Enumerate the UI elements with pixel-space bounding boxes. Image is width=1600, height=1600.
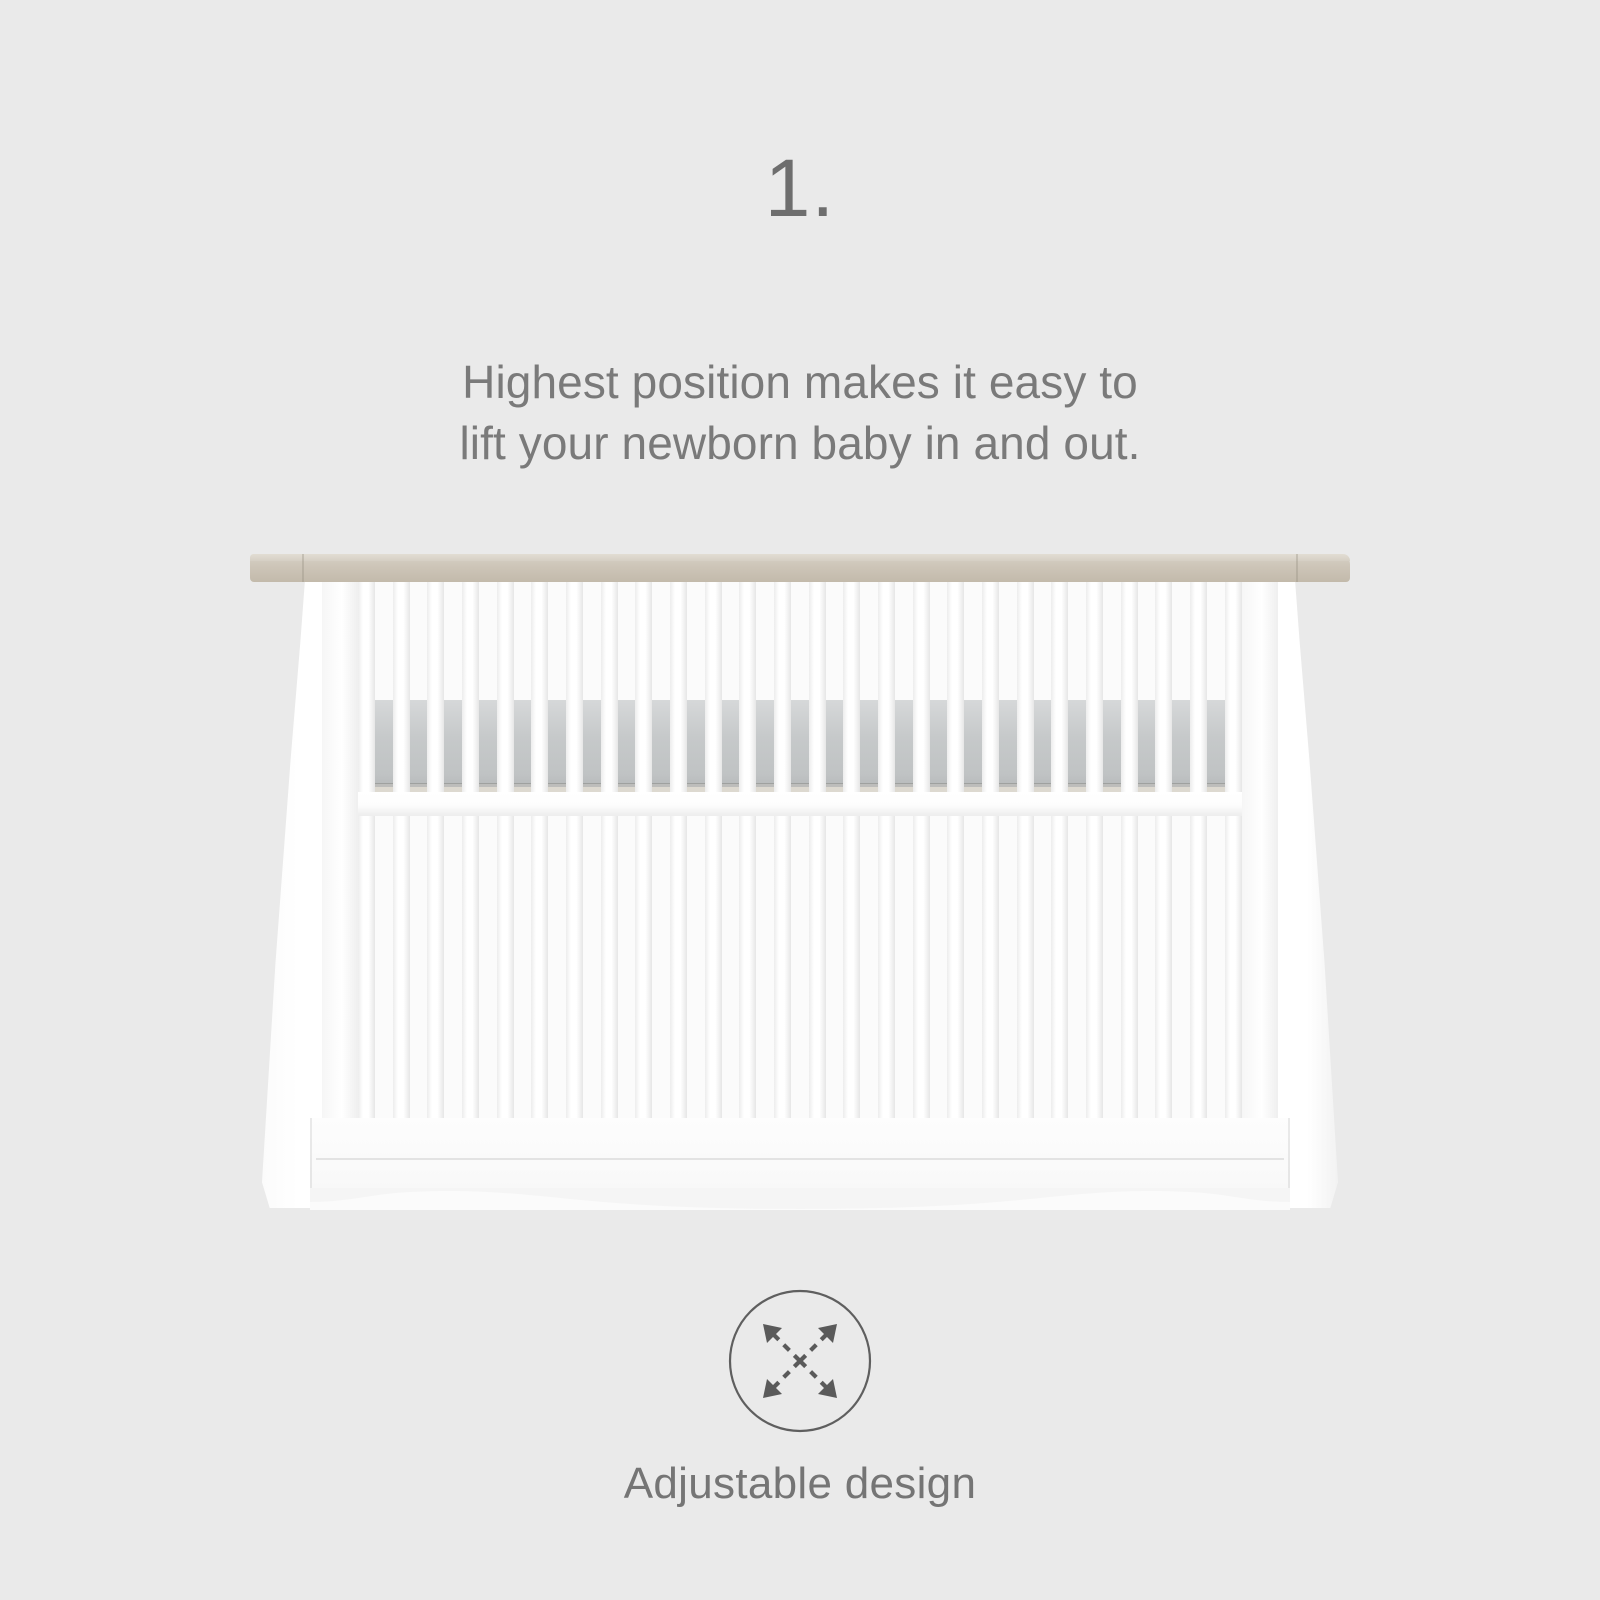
cot-slat xyxy=(774,582,791,1118)
cot-slat xyxy=(427,582,444,1118)
feature-label: Adjustable design xyxy=(0,1460,1600,1508)
cot-slat xyxy=(1225,582,1242,1118)
cot-top-rail-seam-right xyxy=(1296,554,1298,582)
cot-slat xyxy=(982,582,999,1118)
cot-top-rail-highlight xyxy=(250,554,1350,561)
cot-lower-panel-groove xyxy=(316,1158,1284,1160)
cot-slat xyxy=(566,582,583,1118)
cot-slat xyxy=(1017,582,1034,1118)
headline-line-2: lift your newborn baby in and out. xyxy=(0,413,1600,474)
cot-slat xyxy=(635,582,652,1118)
cot-slat xyxy=(670,582,687,1118)
cot-slat xyxy=(497,582,514,1118)
cot-slat xyxy=(393,582,410,1118)
cot-slat xyxy=(705,582,722,1118)
cot-valance xyxy=(310,1188,1290,1210)
cot-slats xyxy=(358,582,1242,1118)
cot-slat xyxy=(601,582,618,1118)
step-number: 1. xyxy=(0,148,1600,230)
adjustable-arrows-icon xyxy=(727,1288,873,1434)
cot-illustration xyxy=(250,540,1350,1210)
cot-slat xyxy=(462,582,479,1118)
feature-badge: Adjustable design xyxy=(0,1288,1600,1508)
cot-slat xyxy=(843,582,860,1118)
product-feature-panel: 1. Highest position makes it easy to lif… xyxy=(0,0,1600,1600)
cot-top-rail xyxy=(250,554,1350,582)
cot-slat xyxy=(809,582,826,1118)
cot-slat xyxy=(1086,582,1103,1118)
headline-line-1: Highest position makes it easy to xyxy=(0,352,1600,413)
cot-slat xyxy=(1121,582,1138,1118)
cot-top-rail-seam-left xyxy=(302,554,304,582)
cot-slat xyxy=(878,582,895,1118)
cot-slat xyxy=(358,582,375,1118)
cot-slat xyxy=(739,582,756,1118)
cot-slat xyxy=(947,582,964,1118)
headline: Highest position makes it easy to lift y… xyxy=(0,352,1600,474)
cot-mid-rail xyxy=(350,792,1250,816)
cot-slat xyxy=(1190,582,1207,1118)
cot-post-inner-right xyxy=(1242,564,1278,1124)
cot-slat xyxy=(531,582,548,1118)
cot-slat xyxy=(913,582,930,1118)
cot-post-inner-left xyxy=(322,564,358,1124)
cot-slat xyxy=(1051,582,1068,1118)
cot-slat xyxy=(1155,582,1172,1118)
